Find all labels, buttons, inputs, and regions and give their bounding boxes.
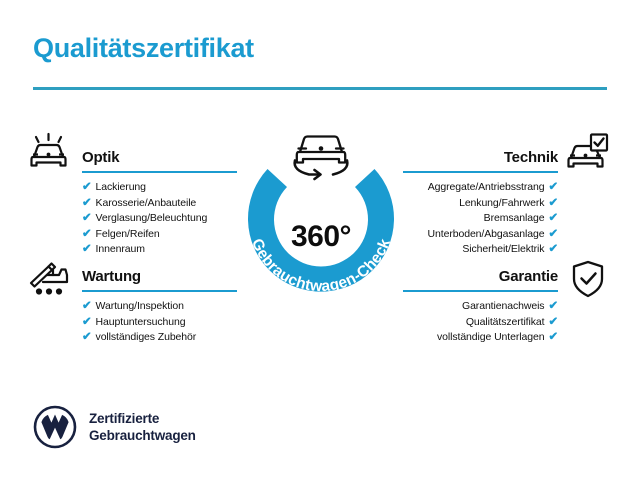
check-icon: ✔ <box>548 299 558 315</box>
check-item-label: Karosserie/Anbauteile <box>96 197 197 209</box>
check-item: ✔Felgen/Reifen <box>82 227 237 243</box>
check-item: ✔Wartung/Inspektion <box>82 299 237 315</box>
section-garantie-head: Garantie <box>403 261 558 285</box>
check-item-label: Sicherheit/Elektrik <box>462 243 544 255</box>
check-item: Lenkung/Fahrwerk✔ <box>403 196 558 212</box>
check-item-label: Qualitätszertifikat <box>466 316 545 328</box>
section-optik-head: Optik <box>82 142 237 166</box>
check-icon: ✔ <box>548 330 558 346</box>
section-optik: Optik ✔Lackierung✔Karosserie/Anbauteile✔… <box>82 142 237 258</box>
car-shine-icon <box>26 132 72 174</box>
vw-logo <box>33 405 77 449</box>
section-garantie-divider <box>403 290 558 292</box>
section-wartung-head: Wartung <box>82 261 237 285</box>
check-item-label: Unterboden/Abgasanlage <box>428 228 545 240</box>
section-wartung-title: Wartung <box>82 268 141 285</box>
check-item-label: Aggregate/Antriebsstrang <box>428 181 545 193</box>
section-optik-title: Optik <box>82 149 119 166</box>
check-icon: ✔ <box>548 196 558 212</box>
section-technik-divider <box>403 171 558 173</box>
badge-center-label: 360° <box>234 220 408 254</box>
check-icon: ✔ <box>548 227 558 243</box>
check-item-label: vollständiges Zubehör <box>96 331 197 343</box>
section-technik: Technik Aggregate/Antriebsstrang✔Lenkung… <box>403 142 558 258</box>
check-icon: ✔ <box>82 242 92 258</box>
check-item: ✔Verglasung/Beleuchtung <box>82 211 237 227</box>
page-title: Qualitätszertifikat <box>33 33 254 64</box>
check-item: Qualitätszertifikat✔ <box>403 315 558 331</box>
check-icon: ✔ <box>82 315 92 331</box>
car-checkbox-icon <box>564 132 610 174</box>
check-icon: ✔ <box>548 242 558 258</box>
section-wartung: Wartung ✔Wartung/Inspektion✔Hauptuntersu… <box>82 261 237 346</box>
footer-brand-line2: Gebrauchtwagen <box>89 427 196 444</box>
title-divider <box>33 87 607 90</box>
shield-check-icon <box>568 258 608 300</box>
check-item: ✔Innenraum <box>82 242 237 258</box>
check-item-label: Verglasung/Beleuchtung <box>96 212 208 224</box>
section-garantie-title: Garantie <box>499 268 558 285</box>
check-item: Unterboden/Abgasanlage✔ <box>403 227 558 243</box>
check-icon: ✔ <box>82 330 92 346</box>
check-item-label: Lackierung <box>96 181 146 193</box>
section-optik-list: ✔Lackierung✔Karosserie/Anbauteile✔Vergla… <box>82 180 237 258</box>
section-optik-divider <box>82 171 237 173</box>
section-technik-title: Technik <box>504 149 558 166</box>
check-item: vollständige Unterlagen✔ <box>403 330 558 346</box>
footer-brand: Zertifizierte Gebrauchtwagen <box>33 405 196 449</box>
section-garantie: Garantie Garantienachweis✔Qualitätszerti… <box>403 261 558 346</box>
section-wartung-list: ✔Wartung/Inspektion✔Hauptuntersuchung✔vo… <box>82 299 237 346</box>
check-item: ✔Lackierung <box>82 180 237 196</box>
check-item-label: vollständige Unterlagen <box>437 331 544 343</box>
check-item-label: Garantienachweis <box>462 300 544 312</box>
footer-brand-line1: Zertifizierte <box>89 410 196 427</box>
check-icon: ✔ <box>82 299 92 315</box>
check-item: ✔Karosserie/Anbauteile <box>82 196 237 212</box>
check-icon: ✔ <box>82 196 92 212</box>
check-item: Garantienachweis✔ <box>403 299 558 315</box>
section-technik-head: Technik <box>403 142 558 166</box>
car-service-tool-icon <box>26 256 72 298</box>
check-item: Bremsanlage✔ <box>403 211 558 227</box>
check-icon: ✔ <box>548 180 558 196</box>
check-item: Sicherheit/Elektrik✔ <box>403 242 558 258</box>
check-icon: ✔ <box>548 211 558 227</box>
section-garantie-list: Garantienachweis✔Qualitätszertifikat✔vol… <box>403 299 558 346</box>
check-icon: ✔ <box>82 180 92 196</box>
check-item-label: Wartung/Inspektion <box>96 300 184 312</box>
badge-360-gebrauchtwagen-check: Gebrauchtwagen-Check 360° <box>234 122 408 302</box>
footer-brand-text: Zertifizierte Gebrauchtwagen <box>89 410 196 444</box>
check-item-label: Innenraum <box>96 243 145 255</box>
check-item: Aggregate/Antriebsstrang✔ <box>403 180 558 196</box>
check-item-label: Bremsanlage <box>484 212 545 224</box>
check-item-label: Felgen/Reifen <box>96 228 160 240</box>
check-item: ✔vollständiges Zubehör <box>82 330 237 346</box>
check-item-label: Hauptuntersuchung <box>96 316 186 328</box>
check-item-label: Lenkung/Fahrwerk <box>459 197 544 209</box>
check-icon: ✔ <box>548 315 558 331</box>
section-wartung-divider <box>82 290 237 292</box>
check-item: ✔Hauptuntersuchung <box>82 315 237 331</box>
check-icon: ✔ <box>82 211 92 227</box>
check-icon: ✔ <box>82 227 92 243</box>
section-technik-list: Aggregate/Antriebsstrang✔Lenkung/Fahrwer… <box>403 180 558 258</box>
